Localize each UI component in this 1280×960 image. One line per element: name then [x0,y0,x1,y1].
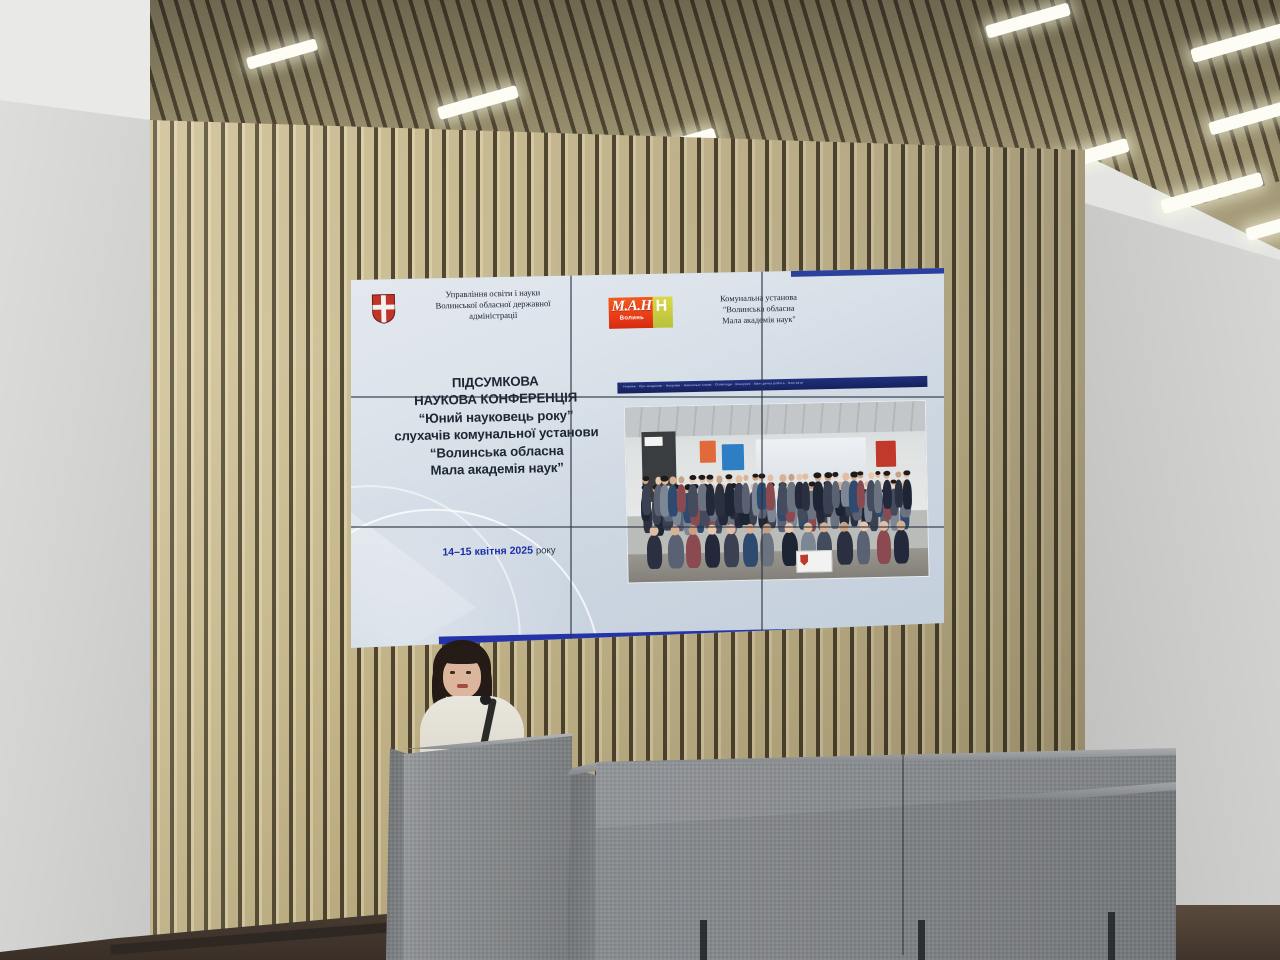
photo-person [831,481,840,508]
photo-person-hair [824,472,832,478]
photo-placard-crest [800,555,808,566]
presentation-slide: Управління освіти і науки Волинської обл… [351,268,944,648]
photo-person-head [678,476,684,483]
bezel-seam-h1 [351,396,944,398]
photo-person-head [842,473,849,481]
photo-person-front [856,530,870,564]
photo-person [705,484,715,516]
man-logo-box: М.А.Н Волинь [608,297,655,329]
photo-person-front [893,529,909,563]
presenter-fringe [437,646,487,664]
photo-hall-sign [644,436,662,445]
speaker-podium [404,736,572,960]
photo-person-head [735,475,742,483]
man-volyn-logo: М.А.Н Волинь Н [608,296,673,328]
conference-hall-photo: Управління освіти і науки Волинської обл… [0,0,1280,960]
photo-person [641,485,651,515]
photo-person-front [668,534,685,568]
photo-backdrop-banner [756,437,867,478]
photo-person [902,479,912,509]
photo-poster-blue [722,443,745,469]
video-wall-display[interactable]: Управління освіти і науки Волинської обл… [351,268,944,648]
man-logo-accent-letter: Н [655,298,667,316]
gooseneck-microphone-head[interactable] [480,694,491,705]
photo-person-front [724,533,739,567]
presenter-mouth [457,684,468,688]
slide-header: Управління освіти і науки Волинської обл… [363,274,932,350]
man-logo-mark: М.А.Н [611,299,651,315]
photo-person-head [669,476,676,484]
bezel-seam-v1 [570,268,572,648]
volyn-coat-of-arms-icon [371,293,396,324]
photo-person-hair [903,470,910,475]
desk-leg-1 [700,920,707,960]
nav-strip-items: Новини · Про академію · Напрями · Навчал… [623,381,803,389]
photo-person-front [686,534,702,568]
left-wall [0,0,175,960]
date-value: 14–15 квітня 2025 [442,545,533,559]
photo-poster-red [876,440,897,466]
photo-person-front [646,535,662,569]
desk-leg-2 [918,920,925,960]
photo-person-front-head [763,523,772,533]
photo-person-front [836,531,853,565]
photo-person [714,483,725,516]
photo-person-head [895,472,901,478]
photo-person [677,484,687,512]
education-department-label: Управління освіти і науки Волинської обл… [405,286,581,323]
inst-line-3: Мала академія наук" [684,314,834,328]
photo-person [688,484,698,517]
photo-person-hair [832,472,838,477]
photo-person [857,480,866,508]
photo-person-front [876,530,891,564]
man-logo-accent: Н [652,296,673,327]
photo-poster-orange [700,441,716,463]
presenter-eye-right [466,671,471,674]
photo-person-front [743,533,758,567]
date-suffix: року [536,545,556,556]
photo-person-hair [642,476,649,481]
photo-placard [796,550,832,573]
photo-person-head [716,475,723,483]
photo-person-head [779,474,786,482]
group-photo [624,400,930,584]
website-nav-strip: Новини · Про академію · Напрями · Навчал… [617,376,927,394]
presidium-desk-seam [902,755,904,955]
man-logo-subtitle: Волинь [620,315,645,322]
desk-leg-3 [1108,912,1115,960]
photo-person [882,480,892,509]
photo-person [894,479,903,507]
photo-person-hair [661,476,669,482]
presenter-eye-left [450,671,455,674]
slide-title: ПІДСУМКОВА НАУКОВА КОНФЕРЕНЦІЯ “Юний нау… [357,370,635,481]
photo-person-head [767,474,773,481]
photo-person-hair [883,471,890,476]
photo-person-head [868,472,874,479]
bezel-seam-v2 [761,268,763,648]
bezel-seam-h2 [351,526,944,528]
photo-person-front [704,533,720,567]
institution-label: Комунальна установа "Волинська обласна М… [683,292,834,328]
